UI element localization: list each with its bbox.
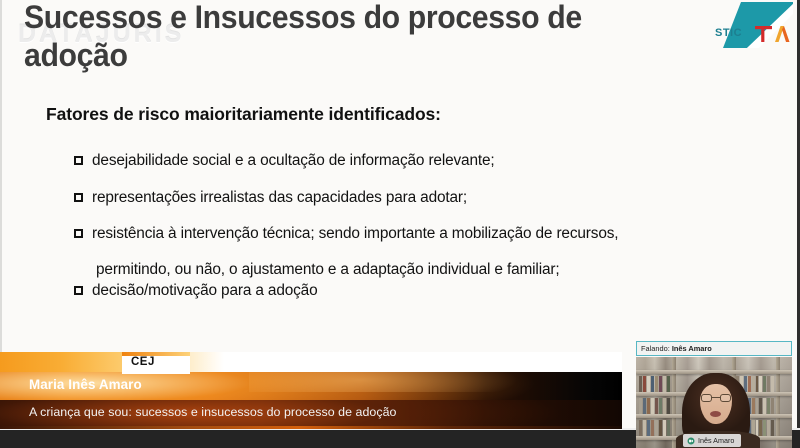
slide-body: Fatores de risco maioritariamente identi… (2, 104, 800, 318)
participant-name-badge: Inês Amaro (683, 434, 741, 447)
svg-text:STIC: STIC (715, 27, 742, 39)
list-item: representações irrealistas das capacidad… (74, 188, 800, 208)
active-speaker-text: Falando: Inês Amaro (641, 344, 712, 353)
book-row (639, 398, 670, 414)
risk-factors-list: desejabilidade social e a ocultação de i… (74, 151, 800, 301)
list-item-continuation: permitindo, ou não, o ajustamento e a ad… (96, 261, 800, 279)
session-subtitle: A criança que sou: sucessos e insucessos… (29, 405, 396, 419)
institution-logo: STIC (689, 0, 793, 50)
list-item-text: decisão/motivação para a adoção (92, 281, 752, 301)
speaker-name: Maria Inês Amaro (29, 377, 142, 392)
list-item-text: desejabilidade social e a ocultação de i… (92, 151, 752, 171)
banner-top-glow (0, 352, 622, 372)
list-item: decisão/motivação para a adoção (74, 281, 800, 301)
checkbox-square-icon (74, 229, 83, 238)
active-speaker-name: Inês Amaro (672, 344, 712, 353)
video-feed[interactable]: Inês Amaro (636, 357, 792, 448)
list-item-text: representações irrealistas das capacidad… (92, 188, 752, 208)
participant-name-text: Inês Amaro (698, 436, 734, 445)
participant-mouth (710, 411, 721, 417)
glasses-icon (701, 394, 731, 402)
book-row (639, 420, 670, 436)
speaker-lower-third-banner: CEJ Maria Inês Amaro A criança que sou: … (0, 352, 622, 430)
slide-title: Sucessos e Insucessos do processo de ado… (24, 0, 638, 75)
checkbox-square-icon (74, 286, 83, 295)
slide-heading: Fatores de risco maioritariamente identi… (46, 104, 800, 125)
list-item: desejabilidade social e a ocultação de i… (74, 151, 800, 171)
banner-bottom-rule (0, 426, 622, 429)
cej-label: CEJ (131, 356, 155, 368)
active-speaker-bar: Falando: Inês Amaro (636, 341, 792, 356)
logo-graphic: STIC (689, 0, 793, 50)
video-panel[interactable]: Falando: Inês Amaro (636, 341, 792, 448)
list-item-text: resistência à intervenção técnica; sendo… (92, 224, 752, 244)
checkbox-square-icon (74, 193, 83, 202)
banner-name-row: Maria Inês Amaro (0, 372, 622, 400)
active-speaker-prefix: Falando: (641, 344, 672, 353)
banner-subtitle-row: A criança que sou: sucessos e insucessos… (0, 400, 622, 426)
presentation-screen: DATAJURIS Sucessos e Insucessos do proce… (0, 0, 800, 448)
list-item: resistência à intervenção técnica; sendo… (74, 224, 800, 244)
camera-status-icon (687, 437, 695, 445)
book-row (639, 376, 670, 392)
checkbox-square-icon (74, 156, 83, 165)
